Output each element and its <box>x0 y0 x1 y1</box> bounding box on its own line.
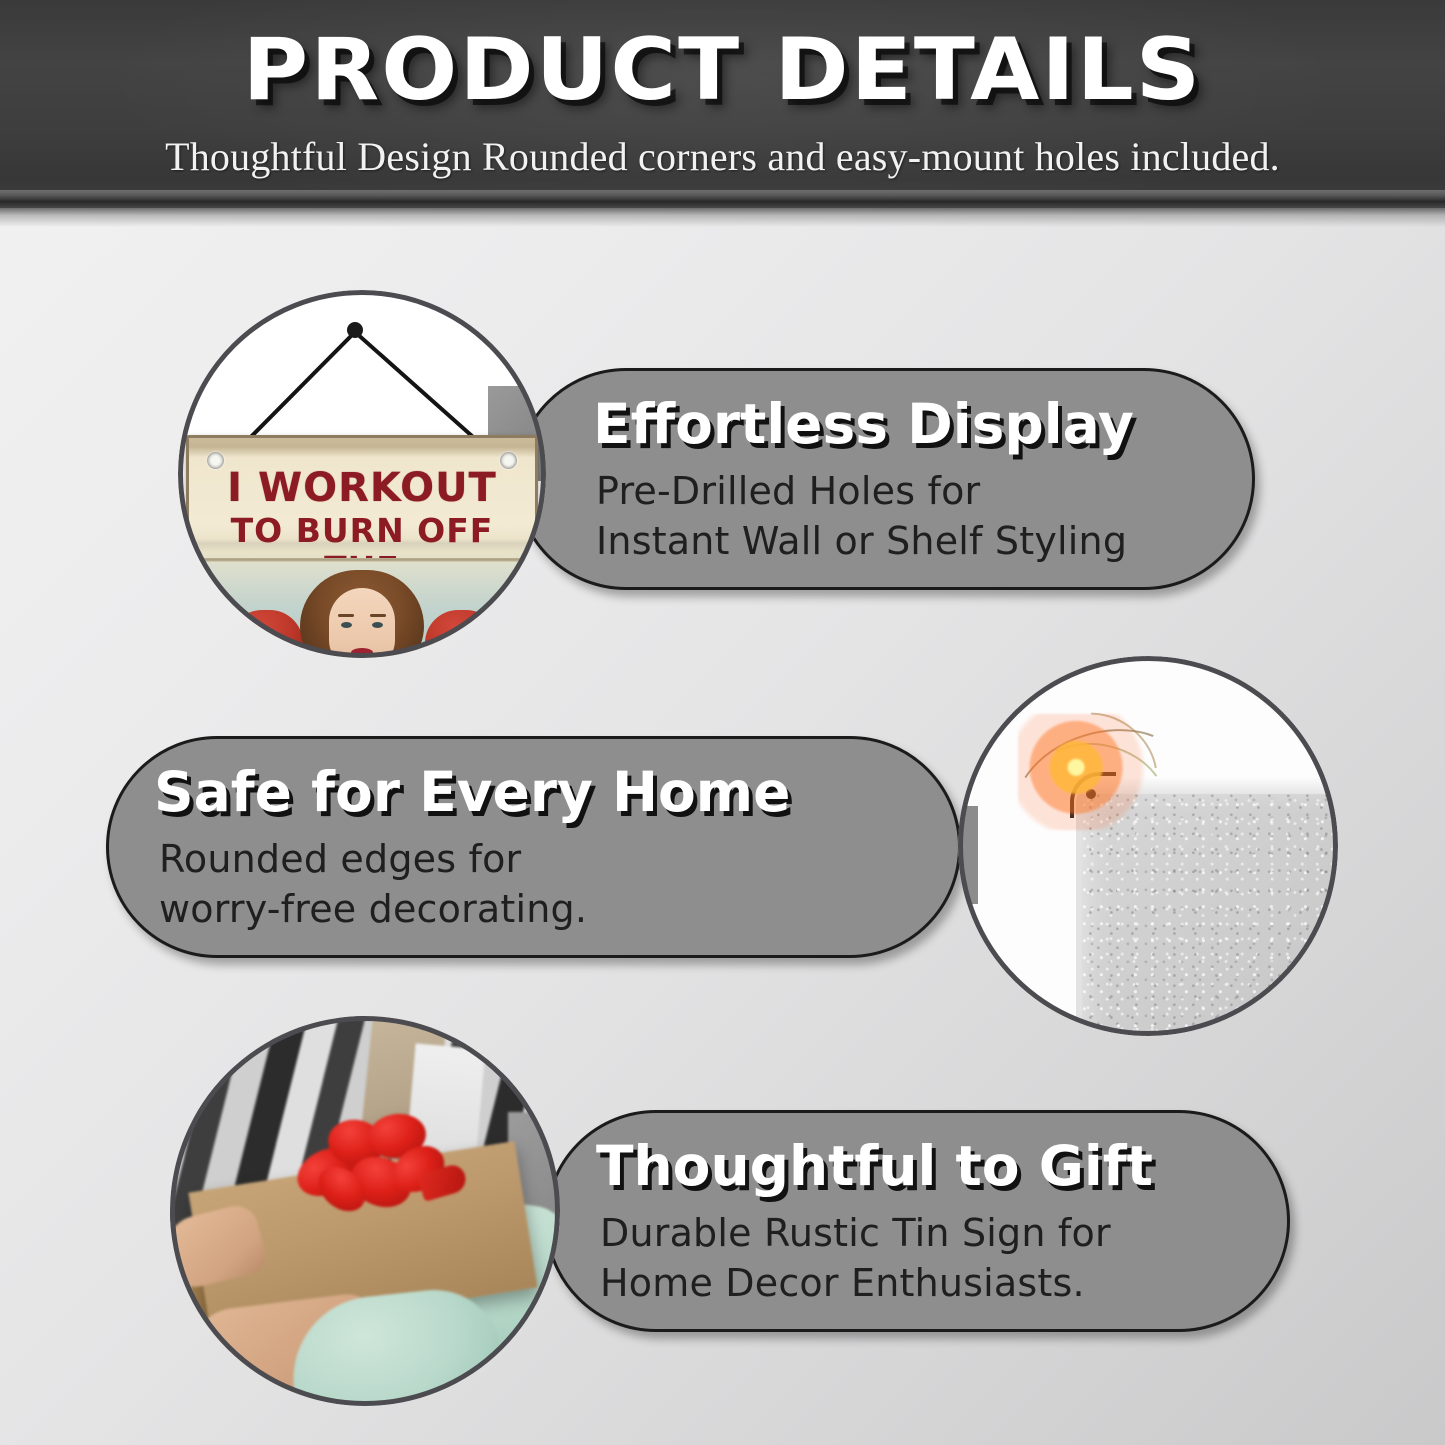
feature-card-safe-for-every-home: Safe for Every Home Rounded edges for wo… <box>106 736 961 958</box>
boxing-glove-right-icon <box>425 610 499 658</box>
cord-knob-icon <box>347 322 363 338</box>
page-title: PRODUCT DETAILS <box>0 22 1445 118</box>
feature-title: Effortless Display <box>593 393 1134 455</box>
red-ribbon-bow-icon <box>292 1108 444 1216</box>
feature-card-effortless-display: Effortless Display Pre-Drilled Holes for… <box>515 368 1255 590</box>
pinup-eye-left <box>341 622 352 628</box>
tin-sign-plate: I WORKOUT TO BURN OFF THE <box>186 435 538 658</box>
sign-illustration <box>189 562 535 658</box>
header-divider-strip <box>0 190 1445 201</box>
feature-body: Durable Rustic Tin Sign for Home Decor E… <box>600 1208 1111 1308</box>
hanging-tin-sign-photo: I WORKOUT TO BURN OFF THE <box>178 290 546 658</box>
sign-text-line-1: I WORKOUT <box>189 466 535 510</box>
page-subtitle: Thoughtful Design Rounded corners and ea… <box>0 133 1445 181</box>
header-banner: PRODUCT DETAILS Thoughtful Design Rounde… <box>0 0 1445 208</box>
pinup-lips <box>351 648 373 657</box>
boxing-glove-left-icon <box>229 610 303 658</box>
product-details-infographic: PRODUCT DETAILS Thoughtful Design Rounde… <box>0 0 1445 1445</box>
feature-title: Safe for Every Home <box>154 761 790 823</box>
feature-body: Pre-Drilled Holes for Instant Wall or Sh… <box>596 466 1127 566</box>
safety-glow-icon <box>1018 714 1150 830</box>
pinup-eye-right <box>372 622 383 628</box>
pinup-brow-right <box>370 614 386 617</box>
feature-card-thoughtful-to-gift: Thoughtful to Gift Durable Rustic Tin Si… <box>545 1110 1290 1332</box>
rounded-corner-closeup-photo <box>958 656 1338 1036</box>
gift-box-handoff-photo <box>170 1016 560 1406</box>
feature-body: Rounded edges for worry-free decorating. <box>159 834 587 934</box>
pinup-face <box>329 588 395 658</box>
photo-inner <box>170 1016 560 1406</box>
feature-title: Thoughtful to Gift <box>596 1135 1153 1197</box>
photo-inner: I WORKOUT TO BURN OFF THE <box>178 290 546 658</box>
pinup-brow-left <box>338 614 354 617</box>
card-edge-shadow <box>958 806 978 904</box>
header-fade <box>0 201 1445 227</box>
photo-inner <box>958 656 1338 1036</box>
